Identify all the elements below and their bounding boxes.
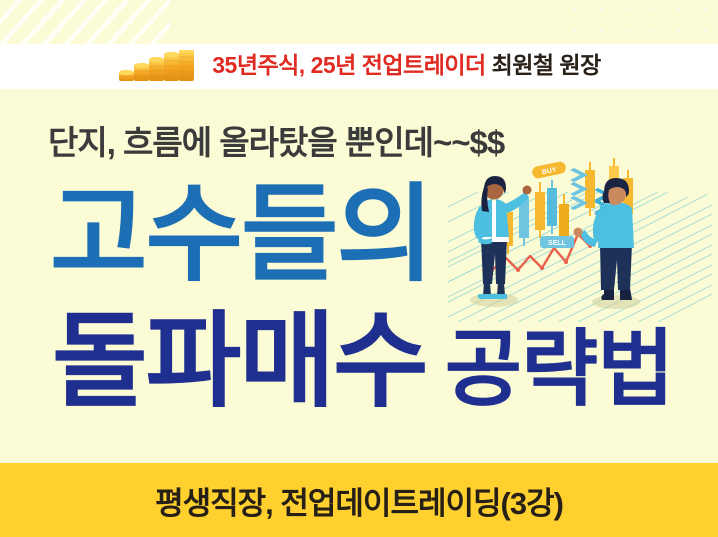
svg-text:SELL: SELL bbox=[548, 240, 567, 247]
coin-stack-icon bbox=[117, 50, 203, 84]
bottom-banner-text: 평생직장, 전업데이트레이딩(3강) bbox=[155, 478, 563, 523]
title-sub-keyword: 공략법 bbox=[445, 327, 674, 414]
bottom-banner: 평생직장, 전업데이트레이딩(3강) bbox=[0, 463, 718, 537]
top-banner-headline: 35년주식, 25년 전업트레이더 최원철 원장 bbox=[212, 54, 601, 79]
sell-label: SELL bbox=[540, 236, 574, 248]
dot-pattern-decoration bbox=[562, 0, 712, 46]
title-line-one: 고수들의 bbox=[50, 182, 432, 288]
buy-label: BUY bbox=[531, 161, 567, 180]
subtitle-text: 단지, 흐름에 올라탔을 뿐인데~~$$ bbox=[48, 116, 504, 164]
top-banner-instructor-name: 최원철 원장 bbox=[492, 52, 601, 78]
shadow-man bbox=[592, 295, 640, 309]
trading-illustration: BUY SELL bbox=[448, 142, 712, 322]
chevron-bars bbox=[570, 168, 588, 210]
top-banner: 35년주식, 25년 전업트레이더 최원철 원장 bbox=[0, 44, 718, 89]
title-main-keyword: 돌파매수 bbox=[52, 310, 427, 414]
poster-canvas: 35년주식, 25년 전업트레이더 최원철 원장 단지, 흐름에 올라탔을 뿐인… bbox=[0, 0, 718, 537]
title-line-two: 돌파매수 공략법 bbox=[52, 310, 674, 414]
top-banner-highlight: 35년주식, 25년 전업트레이더 bbox=[212, 52, 485, 78]
